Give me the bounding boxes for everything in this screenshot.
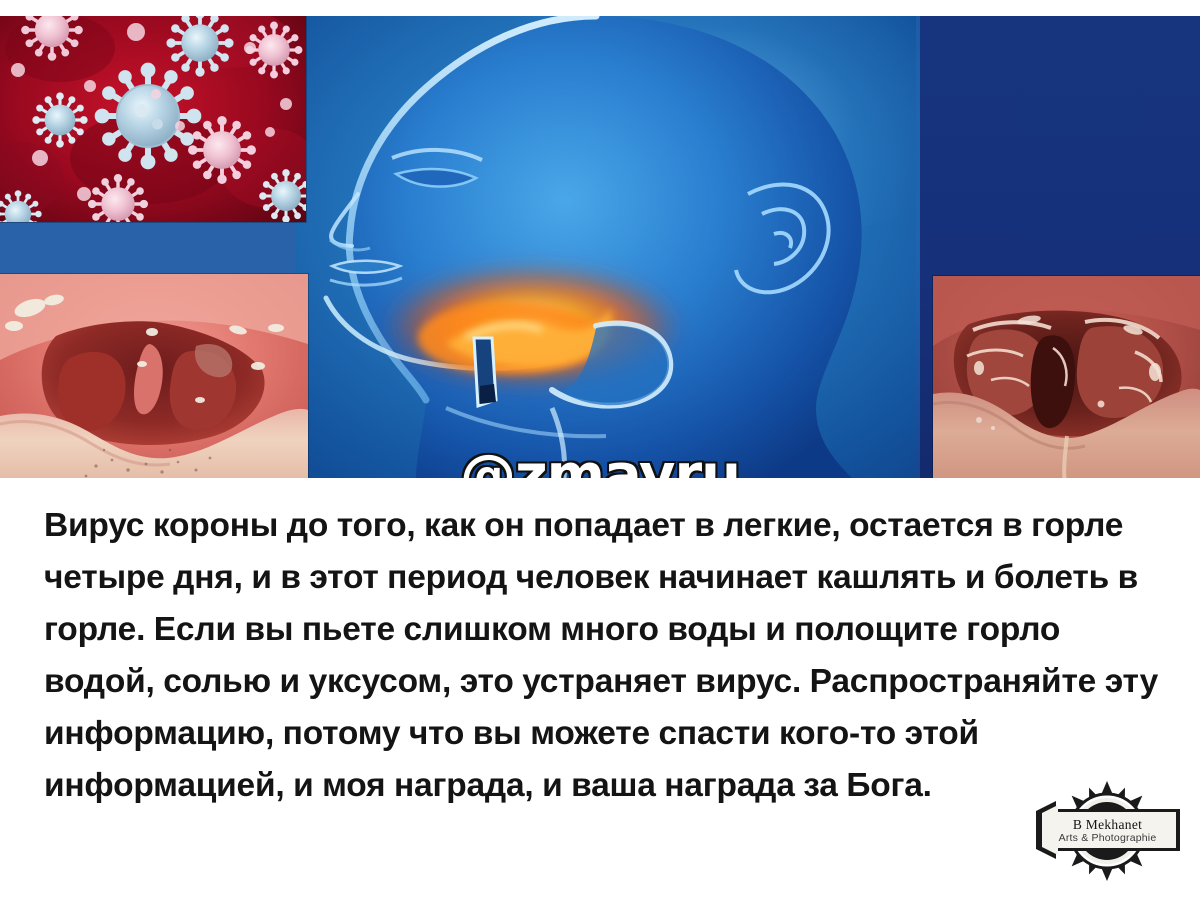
logo-badge: B Mekhanet Arts & Photographie [1030,775,1185,887]
caption-text: Вирус короны до того, как он попадает в … [44,500,1164,812]
inflamed-tonsils-photo-icon [0,274,308,478]
poster-root: @zmayru Вирус короны до того, как он поп… [0,0,1200,900]
throat-photo-right [933,276,1200,478]
top-white-strip [0,8,1200,16]
caption-block: Вирус короны до того, как он попадает в … [0,478,1200,900]
virus-micrograph-photo [0,8,306,222]
coronavirus-particles-icon [0,8,306,222]
human-head-throat-diagram-icon [296,8,916,478]
image-collage: @zmayru [0,8,1200,478]
head-anatomy-panel [296,8,916,478]
throat-photo-left [0,274,308,478]
compass-rose-badge-icon [1030,775,1185,887]
inflamed-throat-photo-icon [933,276,1200,478]
